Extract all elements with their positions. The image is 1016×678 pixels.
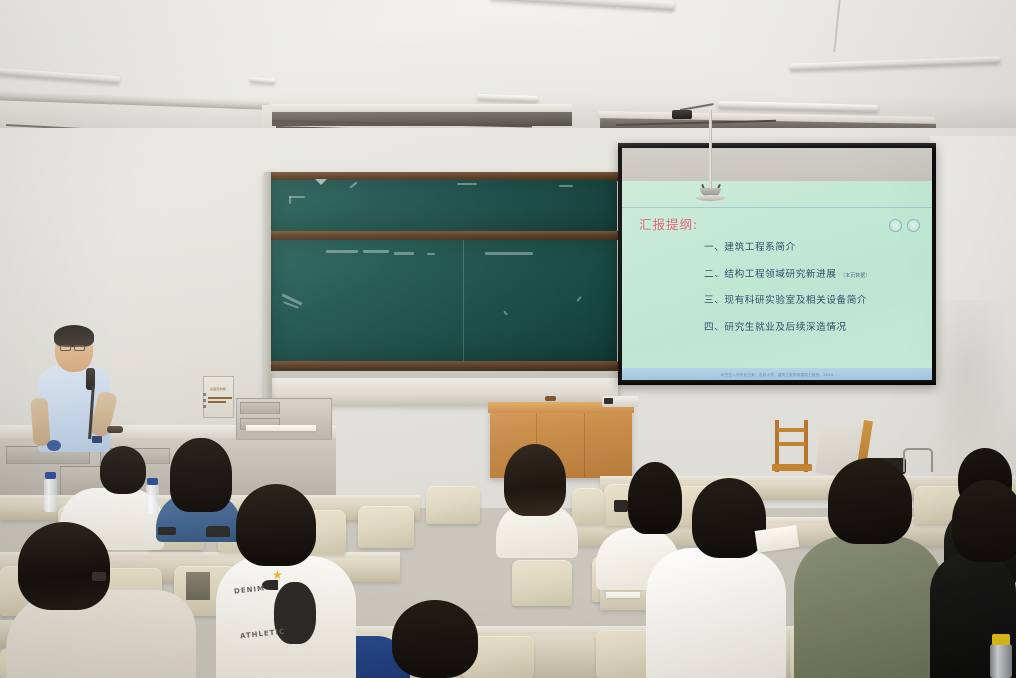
slide-item-2-text: 二、结构工程领域研究新进展	[704, 269, 837, 280]
screen-blank-area	[622, 148, 932, 182]
chair-seat	[772, 464, 812, 471]
seat[interactable]	[426, 486, 480, 524]
slide-item-2-sub: （本页数据）	[840, 273, 870, 279]
classroom-scene: 汇报提纲: 一、建筑工程系简介 二、结构工程领域研究新进展 （本页数据） 三、现…	[0, 0, 1016, 678]
podium-device-screen	[604, 398, 613, 404]
seat[interactable]	[358, 506, 414, 548]
student-hair	[392, 600, 478, 678]
bottle-cap	[45, 472, 56, 479]
student-hair	[952, 480, 1016, 562]
wooden-chair[interactable]	[774, 420, 810, 474]
blackboard-surface-lower	[271, 240, 617, 362]
blackboard-left-post	[264, 172, 271, 405]
water-bottle	[990, 644, 1012, 678]
blackboard	[268, 172, 620, 405]
keys-on-desk	[47, 440, 61, 451]
slide-item-4: 四、研究生就业及后续深造情况	[704, 319, 932, 333]
presenter-arm-left	[30, 397, 50, 446]
control-panel-sub	[208, 401, 226, 403]
chalk-mark	[559, 185, 573, 187]
student-hair	[692, 478, 766, 558]
university-seal-logo-icon	[889, 219, 902, 232]
slide-footer-text: 研究生入学专业方案、吉林大学、建筑工程学院建筑工程系、2024	[622, 373, 932, 378]
student-hair	[628, 462, 682, 534]
glasses-icon	[74, 345, 85, 351]
control-panel-btn[interactable]	[203, 405, 206, 408]
slide-item-1-text: 一、建筑工程系简介	[704, 242, 796, 253]
presentation-slide: 汇报提纲: 一、建筑工程系简介 二、结构工程领域研究新进展 （本页数据） 三、现…	[622, 181, 932, 381]
glasses-icon	[60, 345, 71, 351]
control-panel-label: 设备控制箱	[210, 387, 226, 391]
student-papers	[755, 525, 800, 553]
water-bottle	[44, 478, 57, 512]
control-panel-btn[interactable]	[203, 399, 206, 402]
side-cabinet-drawer[interactable]	[240, 402, 280, 414]
blackboard-seam	[463, 240, 464, 362]
chalk-mark	[363, 250, 389, 253]
seat[interactable]	[572, 488, 604, 524]
slide-outline-list: 一、建筑工程系简介 二、结构工程领域研究新进展 （本页数据） 三、现有科研实验室…	[704, 239, 932, 345]
blackboard-rail-mid	[268, 231, 620, 240]
water-bottle	[146, 484, 159, 514]
blackboard-rail-bottom	[268, 361, 620, 371]
slide-item-4-text: 四、研究生就业及后续深造情况	[704, 322, 847, 333]
control-panel-sub	[208, 397, 232, 399]
star-icon: ★	[272, 568, 283, 582]
blackboard-surface-upper	[271, 180, 617, 232]
chair-slat	[777, 442, 806, 446]
badge	[92, 436, 102, 443]
slide-title: 汇报提纲:	[639, 214, 698, 233]
student-torso	[646, 548, 786, 678]
presenter-remote[interactable]	[107, 426, 123, 433]
sprinkler-drop-pole	[709, 110, 712, 195]
presenter-hair	[54, 325, 94, 347]
bottle-cap	[992, 634, 1010, 645]
projector-mount	[672, 110, 692, 119]
chalk-mark	[485, 252, 533, 255]
notebook-page	[606, 592, 640, 598]
seat-gap	[186, 572, 210, 600]
wall-control-panel[interactable]: 设备控制箱	[203, 376, 234, 418]
chalk-mark	[457, 183, 477, 185]
slide-item-1: 一、建筑工程系简介	[704, 239, 932, 253]
control-panel-btn[interactable]	[203, 393, 206, 396]
screen-bottom-bar	[618, 380, 936, 385]
student-hair	[170, 438, 232, 512]
department-logo-icon	[907, 219, 920, 232]
chair-slat	[777, 428, 806, 432]
chalk-mark	[349, 181, 357, 188]
chalk-mark	[289, 196, 305, 198]
chalk-mark	[326, 250, 358, 253]
slide-item-3: 三、现有科研实验室及相关设备简介	[704, 292, 932, 306]
glasses-icon	[92, 572, 106, 581]
student-torso	[794, 536, 944, 678]
chalk-mark	[394, 252, 414, 255]
slide-logos	[889, 219, 920, 232]
student-hair	[236, 484, 316, 566]
chalk-mark	[289, 196, 291, 204]
desk-paper	[246, 425, 316, 431]
projection-screen: 汇报提纲: 一、建筑工程系简介 二、结构工程领域研究新进展 （本页数据） 三、现…	[618, 143, 936, 385]
phone-on-desk[interactable]	[158, 527, 176, 535]
chalk-mark	[503, 310, 508, 315]
lectern-seam	[584, 412, 585, 478]
slide-item-3-text: 三、现有科研实验室及相关设备简介	[704, 295, 867, 306]
device-on-desk	[614, 500, 628, 512]
sprinkler-cap	[696, 195, 725, 201]
bottle-cap	[147, 478, 158, 485]
chalk-mark	[427, 253, 435, 255]
student-hair	[504, 444, 566, 516]
seat[interactable]	[512, 560, 572, 606]
metal-chair-frame[interactable]	[903, 448, 933, 472]
slide-header-divider	[622, 207, 932, 208]
slide-item-2: 二、结构工程领域研究新进展 （本页数据）	[704, 266, 932, 280]
chalk-stick	[545, 396, 556, 401]
chalk-mark	[315, 179, 327, 185]
student-hair	[828, 458, 912, 544]
student-hair	[18, 522, 110, 610]
student-hair	[100, 446, 146, 494]
bag-on-desk	[206, 526, 230, 537]
chalk-mark	[576, 296, 581, 302]
